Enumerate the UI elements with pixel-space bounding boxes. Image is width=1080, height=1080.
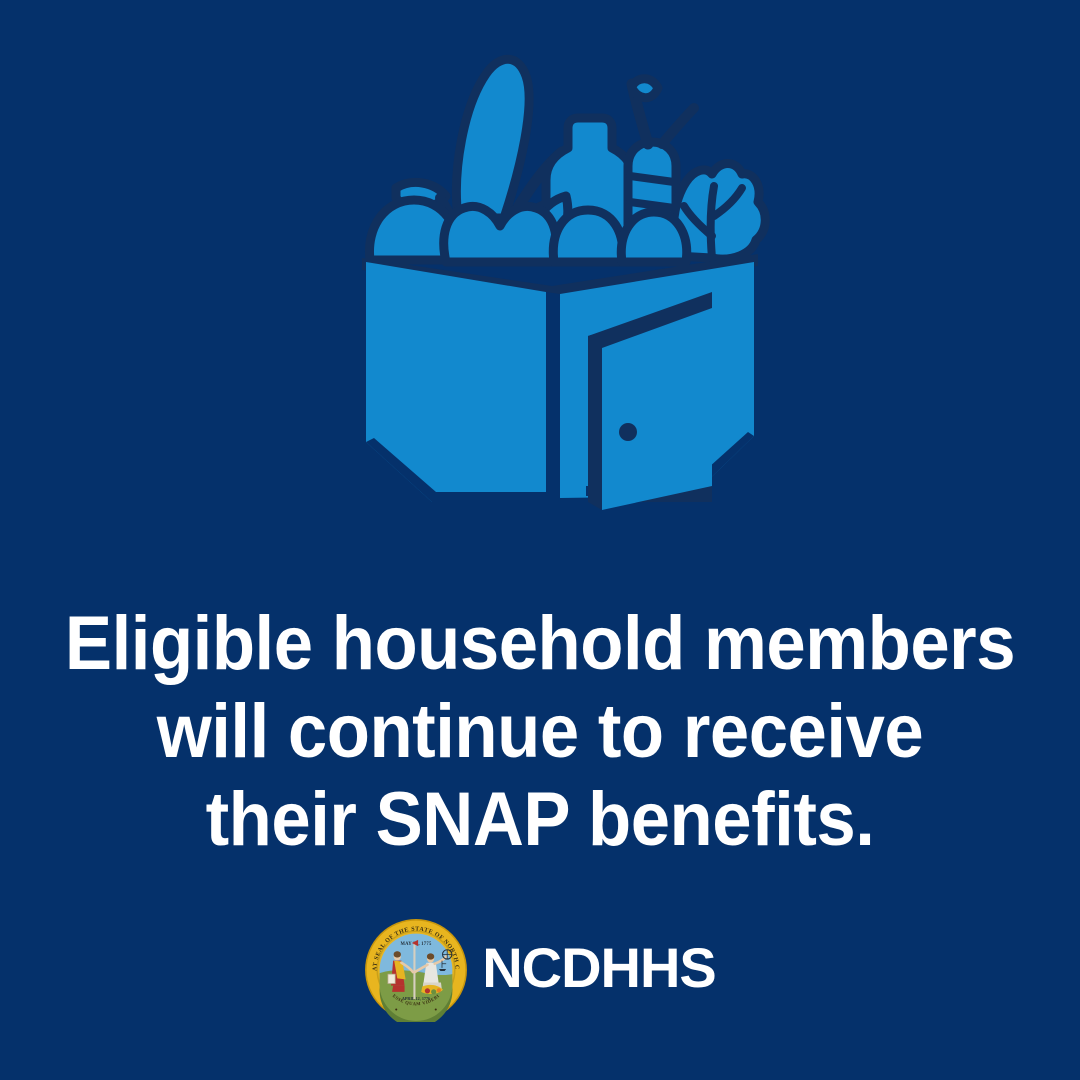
headline-line-3: their SNAP benefits. bbox=[38, 776, 1042, 864]
ncdhhs-logo-lockup: MAY 20, 1775 bbox=[0, 918, 1080, 1022]
social-graphic-canvas: Eligible household members will continue… bbox=[0, 0, 1080, 1080]
ncdhhs-wordmark: NCDHHS bbox=[482, 940, 716, 1000]
paper-bag-group bbox=[362, 254, 758, 510]
north-carolina-state-seal-icon: MAY 20, 1775 bbox=[364, 918, 468, 1022]
headline-text: Eligible household members will continue… bbox=[38, 600, 1042, 864]
svg-text:APRIL 12, 1776: APRIL 12, 1776 bbox=[402, 996, 430, 1001]
bread-loaf-icon bbox=[456, 59, 529, 218]
bag-contents-group bbox=[369, 59, 765, 262]
headline-line-1: Eligible household members bbox=[38, 600, 1042, 688]
grocery-bag-illustration bbox=[340, 40, 780, 550]
onion-icon bbox=[621, 212, 686, 262]
headline-line-2: will continue to receive bbox=[38, 688, 1042, 776]
tomato-icon bbox=[553, 210, 622, 262]
doorknob-icon bbox=[619, 423, 637, 441]
